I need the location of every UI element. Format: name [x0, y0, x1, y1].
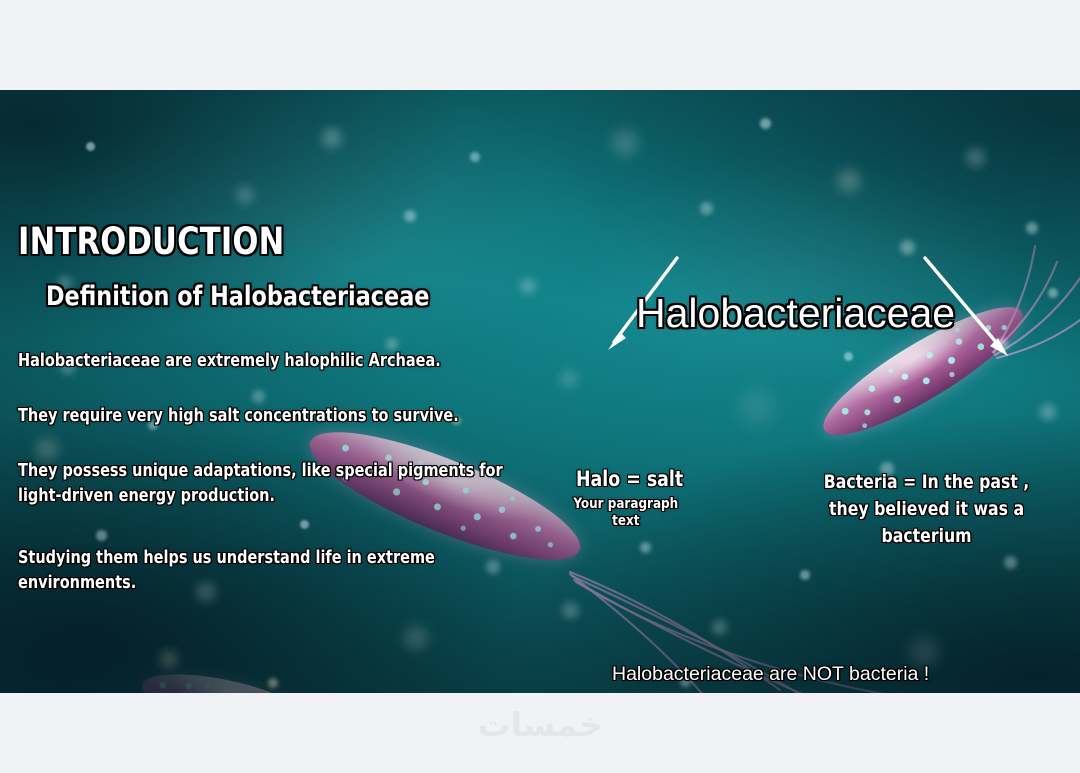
section-subtitle: Definition of Halobacteriaceae: [46, 283, 429, 310]
slide-background-haze: [0, 90, 1080, 693]
page-title: INTRODUCTION: [18, 223, 284, 260]
khamsat-watermark: خمسات: [0, 705, 1080, 744]
callout-halo-label: Halo = salt: [576, 469, 683, 490]
body-line-4: Studying them helps us understand life i…: [18, 546, 515, 596]
callout-halo-placeholder: Your paragraph text: [566, 496, 686, 530]
callout-bacteria-label: Bacteria = In the past , they believed i…: [806, 469, 1047, 550]
statement-not-bacteria: Halobacteriaceae are NOT bacteria !: [612, 665, 929, 685]
presentation-slide: INTRODUCTION Definition of Halobacteriac…: [0, 90, 1080, 693]
body-line-3: They possess unique adaptations, like sp…: [18, 459, 515, 509]
page-canvas: INTRODUCTION Definition of Halobacteriac…: [0, 0, 1080, 773]
body-line-1: Halobacteriaceae are extremely halophili…: [18, 349, 515, 374]
genus-title: Halobacteriaceae: [636, 293, 955, 334]
body-line-2: They require very high salt concentratio…: [18, 404, 515, 429]
